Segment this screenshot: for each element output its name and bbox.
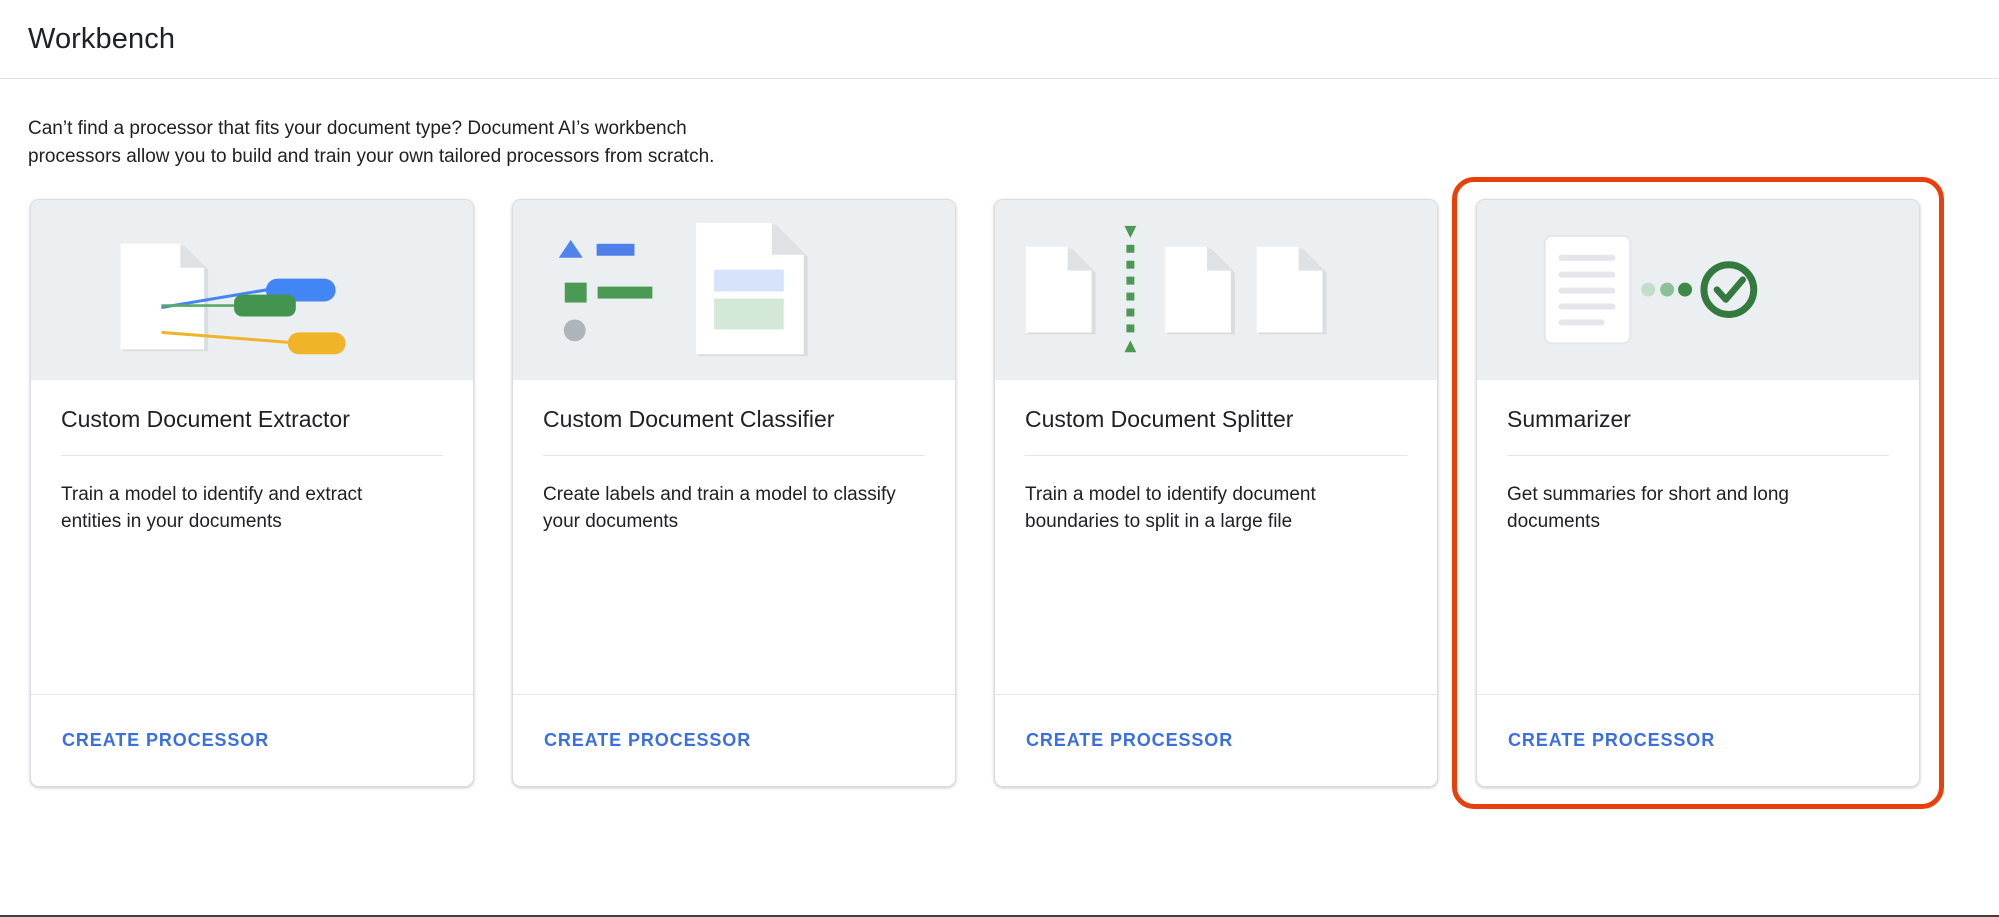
create-processor-button[interactable]: CREATE PROCESSOR bbox=[544, 730, 751, 751]
card-thumbnail-splitter bbox=[995, 200, 1437, 380]
card-actions-splitter: CREATE PROCESSOR bbox=[995, 694, 1437, 786]
card-description: Get summaries for short and long documen… bbox=[1507, 482, 1867, 536]
card-thumbnail-extractor bbox=[31, 200, 473, 380]
card-description: Train a model to identify and extract en… bbox=[61, 482, 421, 536]
card-actions-extractor: CREATE PROCESSOR bbox=[31, 694, 473, 786]
intro-description: Can’t find a processor that fits your do… bbox=[28, 115, 898, 171]
workbench-page: Workbench Can’t find a processor that fi… bbox=[0, 0, 1999, 917]
card-actions-summarizer: CREATE PROCESSOR bbox=[1477, 694, 1919, 786]
custom-document-classifier-icon bbox=[513, 200, 955, 379]
card-description: Create labels and train a model to class… bbox=[543, 482, 903, 536]
card-wrapper-summarizer: Summarizer Get summaries for short and l… bbox=[1452, 177, 1944, 809]
intro-line-2: processors allow you to build and train … bbox=[28, 143, 898, 171]
create-processor-button[interactable]: CREATE PROCESSOR bbox=[1026, 730, 1233, 751]
card-body-extractor: Custom Document Extractor Train a model … bbox=[31, 380, 473, 694]
card-title: Custom Document Classifier bbox=[543, 406, 925, 457]
processor-card-classifier[interactable]: Custom Document Classifier Create labels… bbox=[512, 199, 956, 787]
card-title: Custom Document Splitter bbox=[1025, 406, 1407, 457]
card-title: Custom Document Extractor bbox=[61, 406, 443, 457]
card-title: Summarizer bbox=[1507, 406, 1889, 457]
custom-document-splitter-icon bbox=[995, 200, 1437, 379]
card-actions-classifier: CREATE PROCESSOR bbox=[513, 694, 955, 786]
processor-card-extractor[interactable]: Custom Document Extractor Train a model … bbox=[30, 199, 474, 787]
create-processor-button[interactable]: CREATE PROCESSOR bbox=[1508, 730, 1715, 751]
card-description: Train a model to identify document bound… bbox=[1025, 482, 1385, 536]
summarizer-icon bbox=[1477, 200, 1919, 379]
card-body-splitter: Custom Document Splitter Train a model t… bbox=[995, 380, 1437, 694]
card-wrapper-classifier: Custom Document Classifier Create labels… bbox=[512, 199, 956, 787]
page-title: Workbench bbox=[28, 23, 175, 56]
page-header: Workbench bbox=[0, 0, 1999, 79]
card-body-summarizer: Summarizer Get summaries for short and l… bbox=[1477, 380, 1919, 694]
card-thumbnail-summarizer bbox=[1477, 200, 1919, 380]
intro-line-1: Can’t find a processor that fits your do… bbox=[28, 115, 898, 143]
processor-card-grid: Custom Document Extractor Train a model … bbox=[30, 199, 1999, 787]
create-processor-button[interactable]: CREATE PROCESSOR bbox=[62, 730, 269, 751]
card-thumbnail-classifier bbox=[513, 200, 955, 380]
custom-document-extractor-icon bbox=[31, 200, 473, 379]
card-wrapper-splitter: Custom Document Splitter Train a model t… bbox=[994, 199, 1438, 787]
card-wrapper-extractor: Custom Document Extractor Train a model … bbox=[30, 199, 474, 787]
card-body-classifier: Custom Document Classifier Create labels… bbox=[513, 380, 955, 694]
processor-card-summarizer[interactable]: Summarizer Get summaries for short and l… bbox=[1476, 199, 1920, 787]
processor-card-splitter[interactable]: Custom Document Splitter Train a model t… bbox=[994, 199, 1438, 787]
